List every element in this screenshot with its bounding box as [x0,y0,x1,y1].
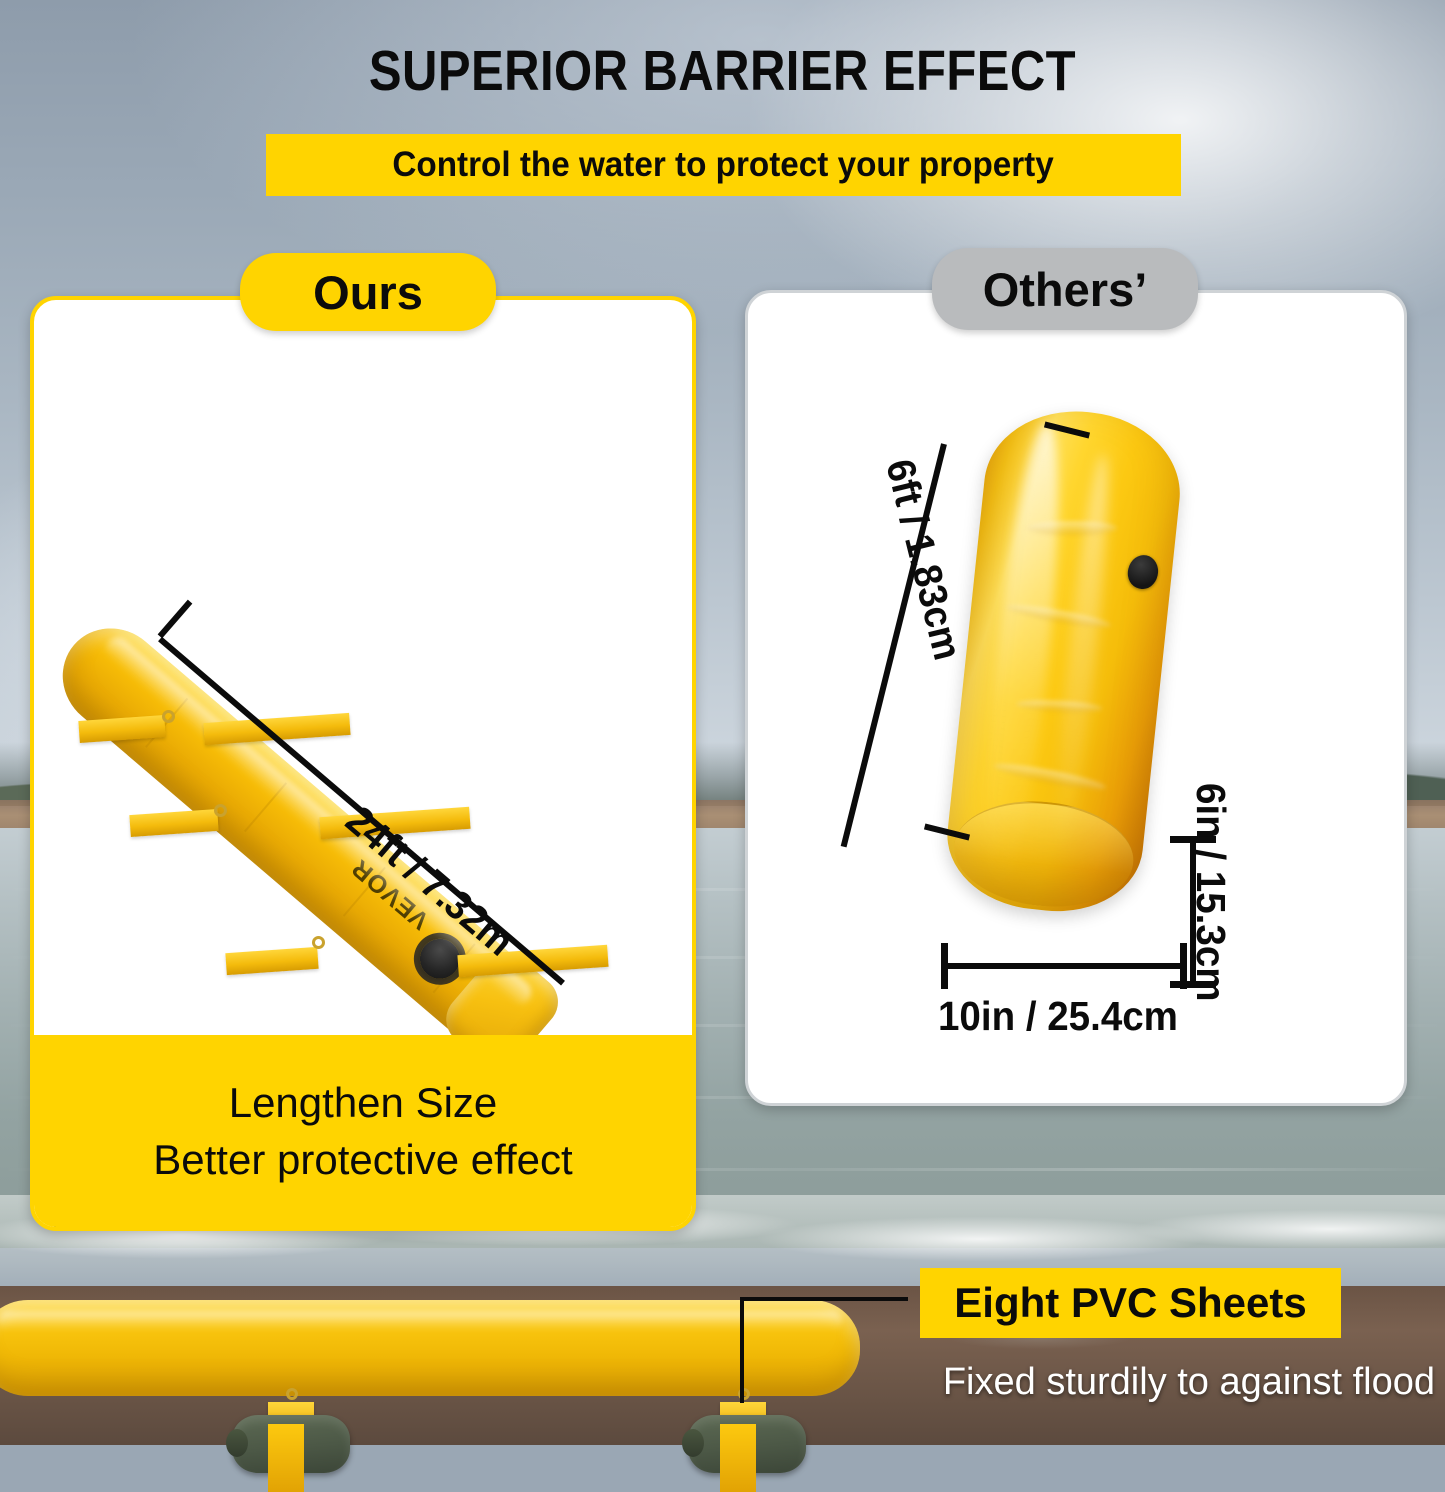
short-flood-barrier-tube [940,402,1187,920]
subtitle-banner: Control the water to protect your proper… [266,134,1181,196]
ours-caption-line-1: Lengthen Size [229,1079,498,1126]
dimension-end-cap [941,943,948,989]
badge-others-label: Others’ [983,262,1148,317]
badge-ours-label: Ours [313,265,423,320]
pvc-flap-sheet [129,809,218,837]
pvc-flap-sheet [225,947,318,975]
anchor-strap [720,1424,756,1492]
callout-leader-vertical [740,1297,744,1403]
dimension-end-cap [1180,943,1187,989]
width-dimension-line [944,963,1186,969]
flap-ring-icon [312,936,325,949]
comparison-card-ours: VEVOR 24ft / 7.32m 6in / 15.3cm 10in / 2… [30,296,696,1231]
others-height-label: 6in / 15.3cm [1187,783,1234,1002]
others-width-label: 10in / 25.4cm [938,993,1178,1040]
comparison-card-others: 6ft / 1.83cm 6in / 15.3cm 10in / 25.4cm [745,290,1407,1106]
others-product-illustration [748,293,1404,1103]
page-title: SUPERIOR BARRIER EFFECT [101,38,1344,104]
badge-ours: Ours [240,253,496,331]
flap-ring-icon [286,1388,298,1400]
installed-flood-barrier [0,1300,860,1396]
badge-others: Others’ [932,248,1198,330]
pvc-callout-subtext: Fixed sturdily to against flood [860,1356,1435,1408]
flap-ring-icon [214,804,227,817]
subtitle-text: Control the water to protect your proper… [393,145,1054,185]
pvc-callout-label: Eight PVC Sheets [954,1279,1306,1327]
anchor-strap [268,1424,304,1492]
short-tube-end-cap [949,793,1139,915]
long-flood-barrier-tube: VEVOR [42,608,562,1072]
pvc-callout-badge: Eight PVC Sheets [920,1268,1341,1338]
callout-leader-horizontal [740,1297,908,1301]
ours-caption-line-2: Better protective effect [153,1136,572,1183]
ours-product-illustration: VEVOR [34,300,692,1040]
ours-caption-band: Lengthen Size Better protective effect [34,1035,692,1227]
flap-ring-icon [162,710,175,723]
